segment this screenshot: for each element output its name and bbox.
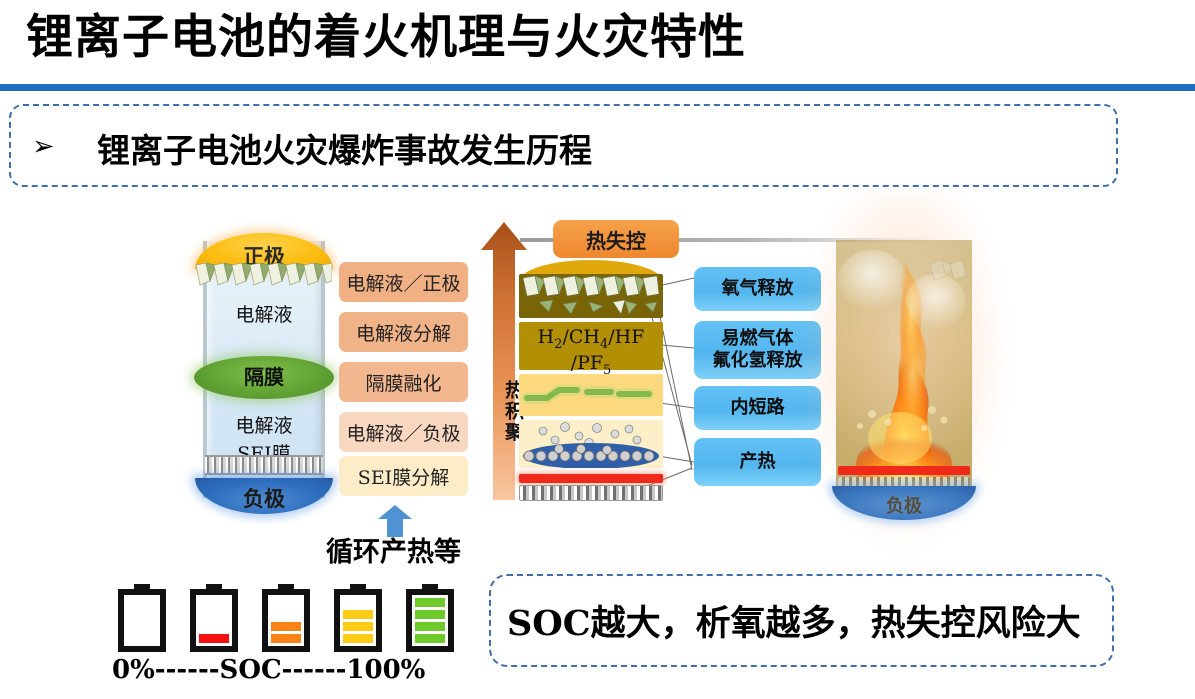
battery-shell-icon bbox=[406, 589, 454, 652]
subtitle-text: 锂离子电池火灾爆炸事故发生历程 bbox=[97, 124, 592, 172]
soc-battery-0 bbox=[118, 584, 166, 652]
sei-film-band-icon bbox=[205, 455, 323, 475]
soc-battery-4 bbox=[406, 584, 454, 652]
flame-icon bbox=[836, 240, 972, 498]
battery-shell-icon bbox=[118, 589, 166, 652]
fire-anode-label: 负极 bbox=[832, 492, 976, 518]
title-underline-rule bbox=[0, 84, 1195, 91]
subtitle-box: ➢ 锂离子电池火灾爆炸事故发生历程 bbox=[9, 104, 1118, 187]
gas-formula-label: H2/CH4/HF /PF5 bbox=[519, 327, 663, 378]
fire-cylinder-body bbox=[836, 240, 972, 498]
burning-battery-illustration: 负极 bbox=[836, 228, 972, 518]
fire-internal-short-bar bbox=[838, 466, 970, 475]
gas-formula-line2: /PF5 bbox=[571, 352, 612, 374]
soc-battery-2 bbox=[262, 584, 310, 652]
reaction-label-electrolyte-cathode: 电解液／正极 bbox=[339, 262, 468, 302]
electrolyte-lower-label: 电解液 bbox=[203, 411, 325, 438]
cycle-heat-note: 循环产热等 bbox=[326, 530, 461, 569]
soc-scale-label: 0%------SOC------100% bbox=[112, 655, 425, 685]
soc-battery-1 bbox=[190, 584, 238, 652]
page-title: 锂离子电池的着火机理与火灾特性 bbox=[26, 14, 746, 61]
reaction-label-sei-decomposition: SEI膜分解 bbox=[339, 456, 468, 496]
slide-root: 锂离子电池的着火机理与火灾特性 ➢ 锂离子电池火灾爆炸事故发生历程 正极 bbox=[0, 0, 1195, 699]
bullet-arrow-icon: ➢ bbox=[32, 133, 55, 160]
electrolyte-upper-label: 电解液 bbox=[203, 300, 325, 327]
cathode-crystal-teeth-icon bbox=[196, 263, 332, 287]
reaction-label-electrolyte-anode: 电解液／负极 bbox=[339, 412, 468, 452]
thermal-runaway-pill: 热失控 bbox=[553, 220, 679, 258]
conclusion-text: SOC越大，析氧越多，热失控风险大 bbox=[507, 595, 1081, 646]
stack-internal-short-bar bbox=[519, 474, 663, 483]
soc-battery-3 bbox=[334, 584, 382, 652]
separator-label: 隔膜 bbox=[194, 356, 334, 399]
reaction-label-electrolyte-decomposition: 电解液分解 bbox=[339, 312, 468, 352]
anode-label: 负极 bbox=[195, 483, 333, 513]
reaction-label-separator-melting: 隔膜融化 bbox=[339, 362, 468, 402]
stack-anode-band bbox=[519, 420, 663, 468]
gas-formula-line1: H2/CH4/HF bbox=[538, 326, 645, 348]
stack-cathode-crystal-band bbox=[519, 274, 663, 318]
flammable-gas-line1: 易燃气体 bbox=[722, 328, 794, 350]
stack-anode-bead-band bbox=[519, 485, 663, 501]
battery-shell-icon bbox=[334, 589, 382, 652]
flammable-gas-line2: 氟化氢释放 bbox=[713, 350, 803, 372]
battery-shell-icon bbox=[262, 589, 310, 652]
separator-ellipse: 隔膜 bbox=[194, 356, 334, 399]
battery-shell-icon bbox=[190, 589, 238, 652]
stack-separator-band bbox=[519, 374, 663, 416]
